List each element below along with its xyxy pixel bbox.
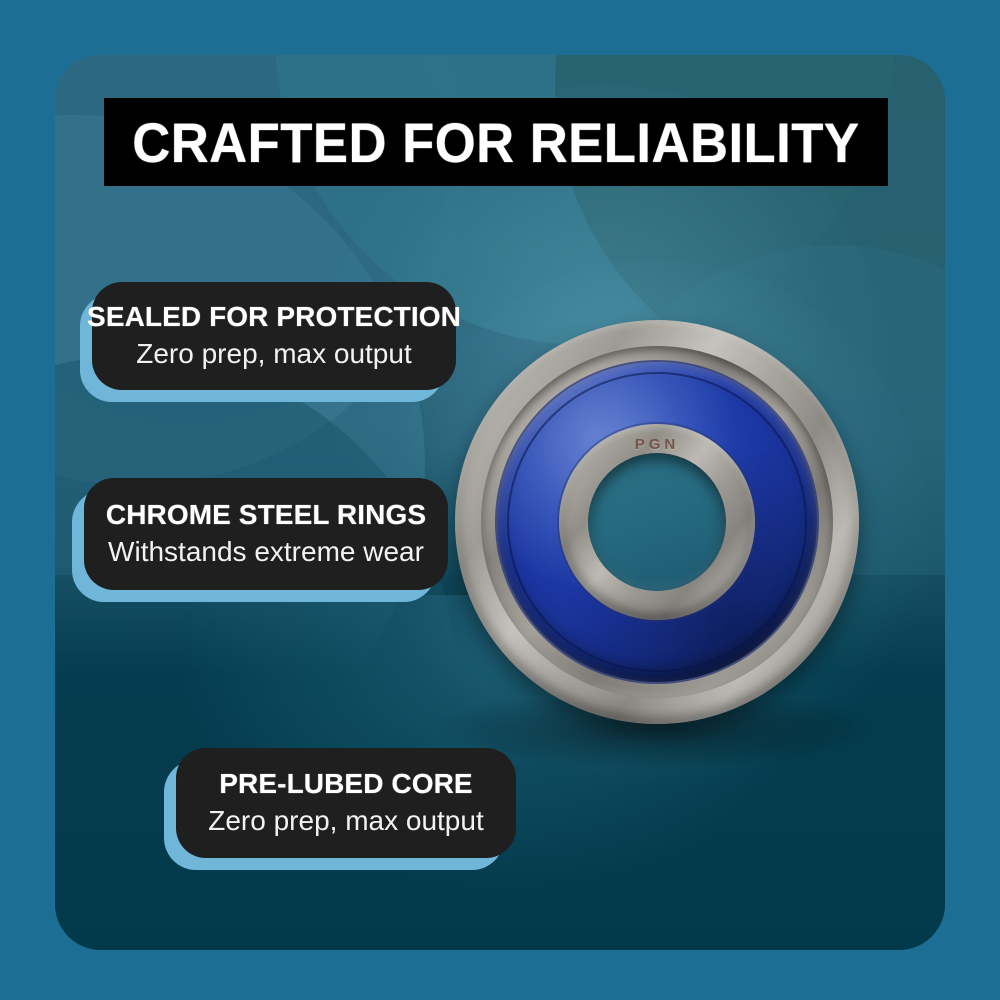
feature-callout-chrome-steel-rings: CHROME STEEL RINGS Withstands extreme we… bbox=[84, 478, 448, 590]
callout-title: PRE-LUBED CORE bbox=[219, 769, 472, 800]
callout-subtitle: Zero prep, max output bbox=[208, 805, 483, 837]
callout-title: CHROME STEEL RINGS bbox=[106, 500, 426, 531]
callout-subtitle: Withstands extreme wear bbox=[108, 536, 424, 568]
headline-banner: CRAFTED FOR RELIABILITY bbox=[104, 98, 888, 186]
callout-card: CHROME STEEL RINGS Withstands extreme we… bbox=[84, 478, 448, 590]
callout-title: SEALED FOR PROTECTION bbox=[87, 302, 461, 333]
page-title: CRAFTED FOR RELIABILITY bbox=[132, 110, 859, 175]
bearing-bore bbox=[588, 453, 726, 591]
callout-subtitle: Zero prep, max output bbox=[136, 338, 411, 370]
feature-callout-sealed-for-protection: SEALED FOR PROTECTION Zero prep, max out… bbox=[92, 282, 456, 390]
product-image-ball-bearing: PGN bbox=[455, 320, 859, 724]
feature-callout-pre-lubed-core: PRE-LUBED CORE Zero prep, max output bbox=[176, 748, 516, 858]
poster-canvas: PGN CRAFTED FOR RELIABILITY SEALED FOR P… bbox=[0, 0, 1000, 1000]
callout-card: SEALED FOR PROTECTION Zero prep, max out… bbox=[92, 282, 456, 390]
callout-card: PRE-LUBED CORE Zero prep, max output bbox=[176, 748, 516, 858]
pgn-brand-engraving: PGN bbox=[455, 436, 859, 453]
